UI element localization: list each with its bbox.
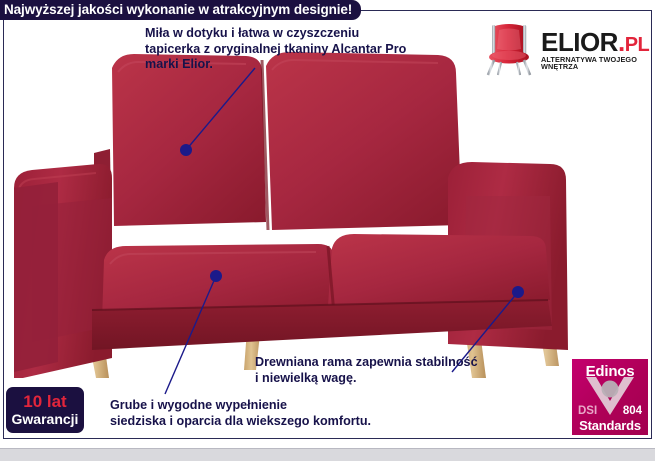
- edinos-number: 804: [623, 405, 642, 417]
- elior-dot: .: [618, 27, 625, 57]
- elior-name: ELIOR: [541, 27, 618, 57]
- callout-upholstery-text: Miła w dotyku i łatwa w czyszczeniu tapi…: [145, 26, 406, 73]
- elior-logo[interactable]: ELIOR.PL ALTERNATYWA TWOJEGO WNĘTRZA: [481, 22, 649, 76]
- header-banner: Najwyższej jakości wykonanie w atrakcyjn…: [0, 0, 361, 20]
- red-chair-icon: [481, 22, 537, 76]
- warranty-badge: 10 lat Gwarancji: [6, 387, 84, 433]
- callout-thick-filling-text: Grube i wygodne wypełnienie siedziska i …: [110, 398, 371, 429]
- elior-logo-text: ELIOR.PL ALTERNATYWA TWOJEGO WNĘTRZA: [541, 27, 649, 71]
- edinos-standards-badge: Edinos DSI 804 Standards: [572, 359, 648, 435]
- edinos-standards-label: Standards: [572, 419, 648, 433]
- elior-wordmark: ELIOR.PL: [541, 29, 649, 55]
- warranty-label: Gwarancji: [12, 411, 79, 427]
- leader-line-upholstery: [186, 68, 255, 150]
- warranty-years: 10 lat: [23, 393, 66, 411]
- elior-domain: PL: [625, 34, 650, 56]
- leader-line-filling: [165, 276, 216, 394]
- edinos-dsi-label: DSI: [578, 405, 597, 417]
- callout-dot-upholstery: [180, 144, 192, 156]
- callout-dot-frame: [512, 286, 524, 298]
- elior-tagline: ALTERNATYWA TWOJEGO WNĘTRZA: [541, 57, 652, 71]
- product-feature-poster: Najwyższej jakości wykonanie w atrakcyjn…: [0, 0, 655, 461]
- callout-dot-filling: [210, 270, 222, 282]
- callout-wooden-frame-text: Drewniana rama zapewnia stabilność i nie…: [255, 355, 478, 386]
